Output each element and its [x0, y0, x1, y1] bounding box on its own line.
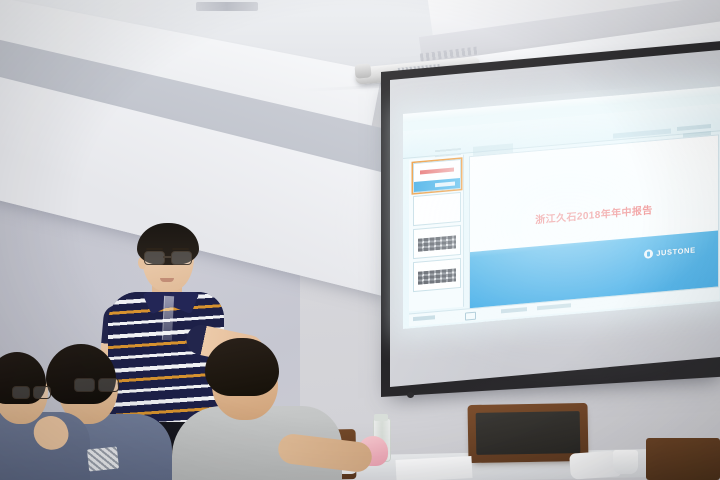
glasses-bridge — [163, 256, 171, 258]
thumbnail-table-content — [418, 268, 456, 284]
pp-thumbnail-pane[interactable] — [409, 155, 464, 312]
white-cup-right — [613, 450, 638, 474]
roller-end-cap — [354, 63, 371, 78]
presenter-striped-polo — [108, 292, 224, 422]
slide-thumbnail-4[interactable] — [413, 258, 461, 292]
presenter-mouth — [160, 278, 174, 282]
thumbnail-blue-band — [414, 178, 460, 192]
wooden-chair-1-upholstery — [476, 411, 581, 455]
presenter-eyeglasses — [143, 251, 193, 264]
slide-thumbnail-1[interactable] — [413, 159, 461, 193]
attendee-2-eyeglasses — [74, 378, 118, 391]
attendee-2-hair — [46, 344, 116, 404]
attendee-3-hair — [205, 338, 279, 396]
lens-left — [144, 251, 165, 265]
status-view-icon[interactable] — [465, 312, 476, 321]
attendee-1-eyeglasses — [12, 386, 48, 398]
meeting-room-photo: 浙江久石2018年年中报告 JUSTONE — [0, 0, 720, 480]
wooden-chair-3 — [646, 438, 720, 480]
status-language — [501, 307, 527, 313]
screen-frame-nub — [407, 392, 414, 398]
lens-right — [33, 386, 51, 399]
ceiling-light-fixture — [196, 2, 258, 11]
lens-left — [74, 378, 95, 392]
thumbnail-title-text — [420, 168, 454, 175]
thumbnail-logo — [435, 181, 455, 187]
lens-left — [12, 386, 30, 399]
slide-thumbnail-3[interactable] — [413, 225, 461, 259]
status-slide-counter — [413, 315, 435, 321]
brow-right — [172, 248, 189, 250]
attendee-2-held-item — [87, 446, 119, 471]
brow-left — [146, 248, 163, 250]
pp-ribbon-group-editing-1[interactable] — [677, 124, 711, 131]
bottle-cap — [374, 414, 388, 421]
circle-logo-icon — [644, 249, 653, 259]
lens-right — [171, 251, 192, 265]
lens-right — [98, 378, 119, 392]
thumbnail-table-content — [418, 235, 456, 251]
pp-ribbon-group-font[interactable] — [613, 129, 671, 139]
projected-powerpoint-window[interactable]: 浙江久石2018年年中报告 JUSTONE — [403, 86, 720, 329]
slide-thumbnail-2[interactable] — [413, 192, 461, 226]
paper-sheet — [395, 456, 472, 480]
status-zoom-slider[interactable] — [537, 303, 571, 310]
